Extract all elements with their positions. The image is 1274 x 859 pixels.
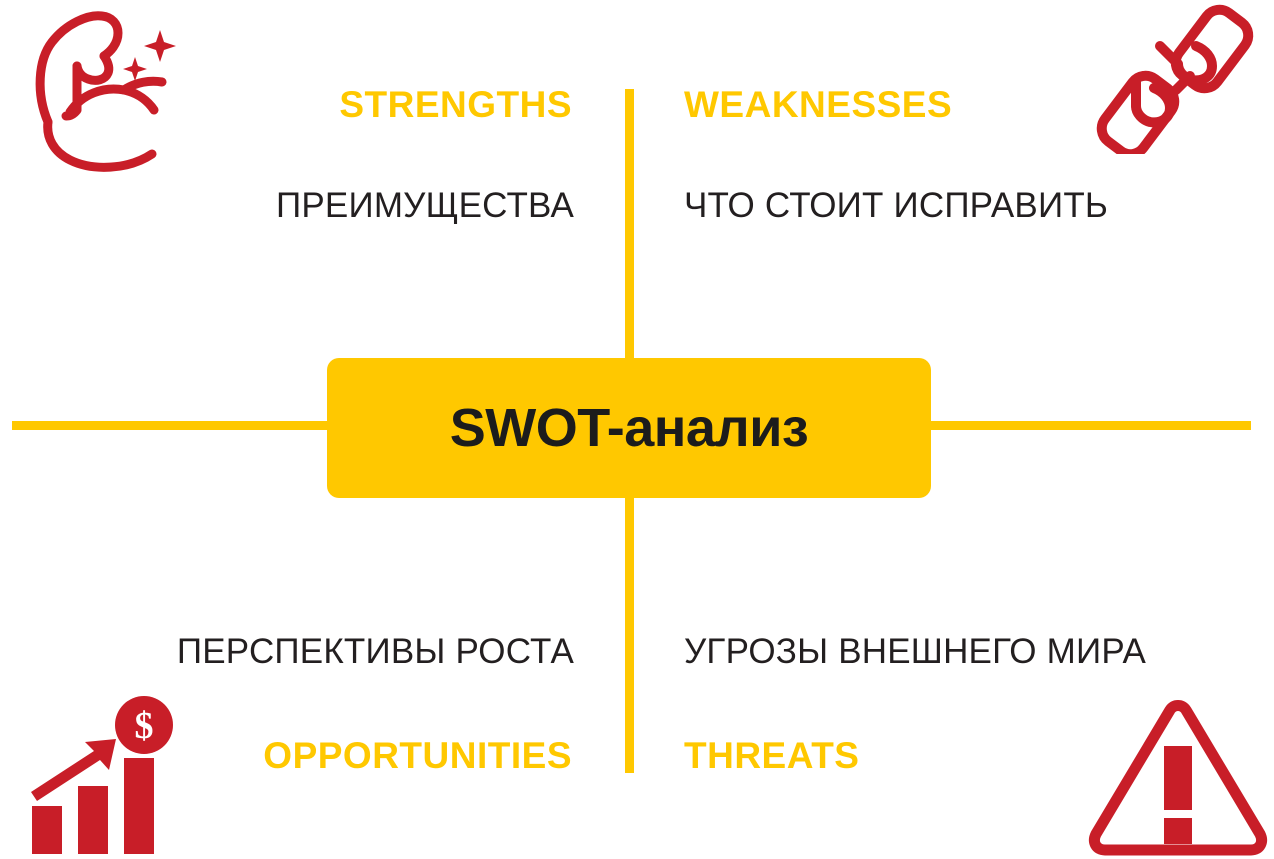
quadrant-sublabel-advantages: ПРЕИМУЩЕСТВА (276, 186, 574, 226)
quadrant-label-strengths: STRENGTHS (339, 84, 572, 126)
swot-diagram: STRENGTHS ПРЕИМУЩЕСТВА WEAKNESSES ЧТО СТ… (0, 0, 1274, 859)
quadrant-label-threats: THREATS (684, 735, 859, 777)
quadrant-label-weaknesses: WEAKNESSES (684, 84, 952, 126)
svg-text:$: $ (135, 705, 154, 747)
quadrant-sublabel-opportunities: ПЕРСПЕКТИВЫ РОСТА (177, 632, 574, 672)
growth-chart-icon: $ (28, 694, 188, 856)
broken-chain-icon (1092, 2, 1264, 154)
flexed-arm-icon (12, 2, 192, 174)
quadrant-sublabel-weaknesses: ЧТО СТОИТ ИСПРАВИТЬ (684, 186, 1108, 226)
warning-triangle-icon (1082, 698, 1272, 858)
page-title: SWOT-анализ (450, 397, 809, 459)
quadrant-label-opportunities: OPPORTUNITIES (263, 735, 572, 777)
quadrant-sublabel-threats: УГРОЗЫ ВНЕШНЕГО МИРА (684, 632, 1146, 672)
center-title-box: SWOT-анализ (327, 358, 931, 498)
